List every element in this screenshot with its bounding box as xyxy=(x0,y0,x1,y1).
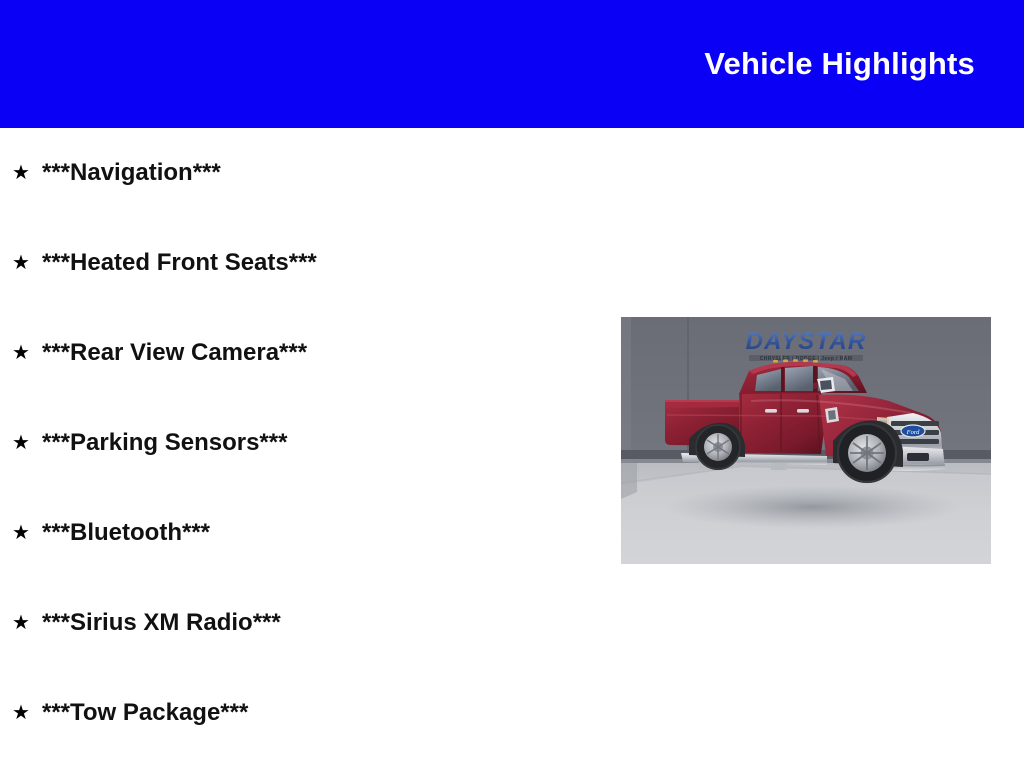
dealership-sign: DAYSTAR CHRYSLER / DODGE / Jeep / RAM xyxy=(746,328,867,362)
list-item: ★ ***Rear View Camera*** xyxy=(0,308,600,398)
list-item: ★ ***Heated Front Seats*** xyxy=(0,218,600,308)
star-icon: ★ xyxy=(12,253,30,273)
vehicle-photo-image: DAYSTAR CHRYSLER / DODGE / Jeep / RAM xyxy=(621,317,991,564)
star-icon: ★ xyxy=(12,433,30,453)
list-item: ★ ***Tow Package*** xyxy=(0,668,600,758)
star-icon: ★ xyxy=(12,163,30,183)
highlight-label: ***Sirius XM Radio*** xyxy=(42,611,281,635)
star-icon: ★ xyxy=(12,523,30,543)
ford-badge: Ford xyxy=(906,429,921,436)
highlight-label: ***Tow Package*** xyxy=(42,701,248,725)
star-icon: ★ xyxy=(12,703,30,723)
star-icon: ★ xyxy=(12,343,30,363)
list-item: ★ ***Parking Sensors*** xyxy=(0,398,600,488)
highlight-label: ***Bluetooth*** xyxy=(42,521,210,545)
vehicle-highlights-list: ★ ***Navigation*** ★ ***Heated Front Sea… xyxy=(0,128,600,758)
highlight-label: ***Parking Sensors*** xyxy=(42,431,287,455)
star-icon: ★ xyxy=(12,613,30,633)
highlight-label: ***Navigation*** xyxy=(42,161,221,185)
list-item: ★ ***Navigation*** xyxy=(0,128,600,218)
list-item: ★ ***Sirius XM Radio*** xyxy=(0,578,600,668)
highlight-label: ***Rear View Camera*** xyxy=(42,341,307,365)
list-item: ★ ***Bluetooth*** xyxy=(0,488,600,578)
highlight-label: ***Heated Front Seats*** xyxy=(42,251,317,275)
page-header: Vehicle Highlights xyxy=(0,0,1024,128)
page-title: Vehicle Highlights xyxy=(704,46,975,82)
svg-text:DAYSTAR: DAYSTAR xyxy=(746,328,867,355)
vehicle-photo: DAYSTAR CHRYSLER / DODGE / Jeep / RAM xyxy=(621,317,991,564)
